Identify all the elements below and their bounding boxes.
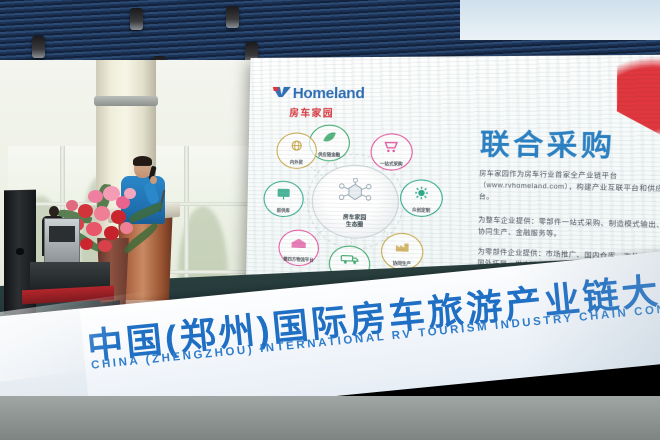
hub-label-line2: 生态圈 xyxy=(346,222,364,230)
leaf-finance-icon xyxy=(321,131,338,150)
eco-node-label: 内外贸 xyxy=(290,160,303,165)
flower-bloom xyxy=(66,200,78,211)
eco-node-fourth-party-logistics[interactable]: 第四方物流平台 xyxy=(278,229,319,267)
flower-bloom xyxy=(124,188,136,199)
flower-bloom xyxy=(88,190,103,203)
eco-node-label: 供应链金融 xyxy=(318,152,340,158)
speaker-port xyxy=(16,248,24,255)
monitor-icon xyxy=(276,187,291,206)
flower-bloom xyxy=(78,204,93,218)
globe-trade-icon xyxy=(289,138,305,156)
network-cube-icon xyxy=(337,178,373,211)
eco-node-label: 协同生产 xyxy=(393,260,411,266)
slide-paragraph: 为整车企业提供：零部件一站式采购、制造模式输出、众包设计、协同生产、金融服务等。 xyxy=(478,214,660,245)
technician-head xyxy=(49,206,59,217)
flower-bloom xyxy=(94,206,110,221)
logo-wordmark: Homeland xyxy=(293,86,365,101)
flower-bloom xyxy=(86,222,102,236)
glasses-icon xyxy=(135,165,150,169)
column-collar xyxy=(94,96,158,106)
spotlight-icon xyxy=(226,6,239,28)
flower-bloom xyxy=(120,222,133,234)
slide-paragraph: 房车家园作为房车行业首家全产业链平台（www.rvhomeland.com），构… xyxy=(479,168,660,209)
eco-node-label: 众创定制 xyxy=(412,207,430,213)
eco-node-label: 第四方物流平台 xyxy=(283,256,314,262)
spotlight-icon xyxy=(130,8,143,30)
flower-bloom xyxy=(80,238,93,250)
slide-title: 联合采购 xyxy=(480,122,617,165)
banner-shadow-overlay xyxy=(511,250,660,378)
warehouse-icon xyxy=(290,235,307,254)
flower-bloom xyxy=(98,240,112,252)
spotlight-icon xyxy=(32,36,45,58)
eco-node-label: 前供库 xyxy=(277,208,290,214)
factory-icon xyxy=(394,239,411,258)
gear-sun-icon xyxy=(413,186,429,206)
foreground-floor xyxy=(0,396,660,440)
ceiling-right-panel xyxy=(460,0,660,40)
shopping-cart-icon xyxy=(383,139,400,158)
eco-node-label: 一站式采购 xyxy=(380,161,403,167)
conference-photo-scene: Homeland 房车家园 xyxy=(0,0,660,440)
foliage-leaf xyxy=(128,202,165,224)
rv-truck-icon xyxy=(340,251,359,270)
rv-arrow-mark-icon xyxy=(271,83,291,103)
rack-front-panel xyxy=(49,226,75,242)
flower-bloom xyxy=(104,226,119,240)
